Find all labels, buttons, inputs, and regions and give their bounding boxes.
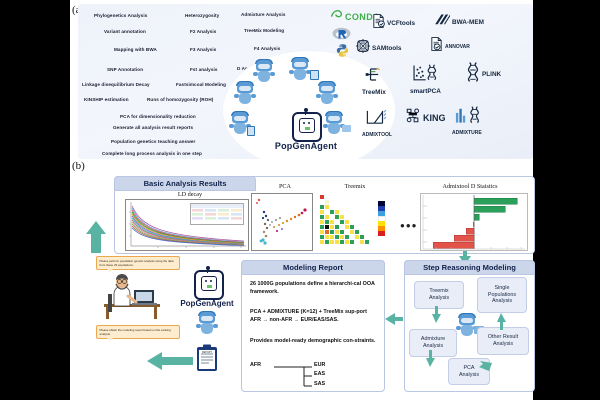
- popgenagent-logo-icon-b: [194, 270, 224, 300]
- node-pca-analysis[interactable]: PCA Analysis: [448, 358, 490, 385]
- tool-admixtool: ADMIXTOOL: [362, 108, 392, 138]
- capability-item: KINSHIP estimation: [84, 97, 129, 102]
- ld-decay-plot: [125, 199, 249, 251]
- king-icon: [406, 108, 421, 128]
- capability-item: F4 Analysis: [254, 46, 280, 51]
- panel-b-workflow: Basic Analysis Results LD decay PCA Tree…: [78, 172, 533, 396]
- user-request-bubble-1: Please perform population genetic analys…: [96, 256, 180, 270]
- step-reasoning-title: Step Reasoning Modeling: [404, 260, 535, 275]
- python-logo-icon: [335, 43, 350, 63]
- svg-text:REPORT: REPORT: [202, 351, 212, 354]
- admixture-icon: [454, 106, 480, 129]
- capability-item: F3 Analysis: [190, 47, 216, 52]
- panel-a-platform-overview: Phylogenetics Analysis Heterozygosity Ad…: [78, 4, 533, 159]
- plink-icon: [466, 62, 480, 87]
- tool-bwa-mem: BWA-MEM: [434, 13, 484, 32]
- capability-item: Variant annotation: [104, 29, 146, 34]
- arrow-results-up: [84, 220, 108, 259]
- tool-smartpca: smartPCA: [410, 64, 441, 95]
- tool-annovar: ANNOVAR: [430, 37, 470, 56]
- tool-label: ADMIXTOOL: [362, 132, 392, 138]
- tool-samtools: SAMtools: [356, 39, 401, 58]
- basic-analysis-results-title: Basic Analysis Results: [114, 176, 256, 191]
- capability-item: Generate all analysis result reports: [113, 125, 193, 130]
- capability-item: TreeMix Modeling: [244, 28, 284, 33]
- tool-label: VCFtools: [387, 20, 415, 27]
- tool-label: ANNOVAR: [445, 44, 470, 50]
- tool-label: smartPCA: [410, 88, 441, 95]
- tool-treemix: TreeMix: [362, 66, 386, 96]
- figure-content: (a) Phylogenetics Analysis Heterozygosit…: [70, 0, 533, 400]
- tool-vcftools: VCFtools: [372, 14, 415, 33]
- capability-item: Population genetics teaching answer: [111, 139, 195, 144]
- capability-item: Linkage disequilibrium Decay: [82, 82, 150, 87]
- node-single-populations-analysis[interactable]: Single Populations Analysis: [477, 277, 527, 313]
- capability-item: Heterozygosity: [185, 13, 219, 18]
- capability-item: Phylogenetics Analysis: [94, 13, 147, 18]
- report-clipboard-icon: REPORT: [196, 344, 218, 372]
- treemix-heatmap: [320, 195, 392, 249]
- tool-king: KING: [406, 108, 446, 128]
- tool-admixture: ADMIXTURE: [452, 106, 482, 136]
- capability-item: F2 Analysis: [190, 29, 216, 34]
- node-treemix-analysis[interactable]: Treemix Analysis: [414, 281, 464, 309]
- samtools-icon: [356, 39, 370, 58]
- step-reasoning-card: Step Reasoning Modeling Treemix Analysis…: [404, 260, 535, 392]
- dstats-plot: [420, 193, 528, 251]
- report-paragraph-3: Provides model-ready demographic con-str…: [250, 337, 376, 345]
- capability-item: Fst analysis: [190, 67, 218, 72]
- tool-python: [335, 43, 350, 63]
- treemix-title: Treemix: [325, 183, 385, 190]
- capability-item: Complete long process analysis in one st…: [102, 151, 202, 156]
- arrow-report-to-user: [146, 350, 194, 377]
- basic-analysis-results-card: Basic Analysis Results LD decay PCA Tree…: [114, 176, 535, 254]
- pca-title: PCA: [255, 183, 315, 190]
- bwamem-icon: [434, 13, 450, 32]
- annovar-icon: [430, 37, 443, 56]
- user-request-bubble-2: Please obtain the modeling report based …: [96, 325, 180, 339]
- arrow-reasoning-to-report: [384, 312, 404, 331]
- modeling-report-title: Modeling Report: [241, 260, 385, 275]
- vcftools-icon: [372, 14, 385, 33]
- capability-item: Runs of homozygosity (ROH): [147, 97, 213, 102]
- panel-b-label: (b): [72, 160, 85, 172]
- report-paragraph-2: PCA + ADMIXTURE (K=12) + TreeMix sup-por…: [250, 308, 376, 324]
- admixtool-icon: [366, 108, 388, 131]
- demographic-tree-diagram: AFR EUR EAS SAS: [250, 365, 370, 389]
- researcher-illustration: [100, 272, 172, 320]
- node-other-result-analysis[interactable]: Other Result Analysis: [477, 327, 529, 355]
- capability-item: Admixture Analysis: [241, 12, 286, 17]
- tool-label: SAMtools: [372, 45, 401, 52]
- figure-canvas: (a) Phylogenetics Analysis Heterozygosit…: [0, 0, 600, 400]
- node-admixture-analysis[interactable]: Admixture Analysis: [409, 329, 457, 357]
- tree-leaf-label: SAS: [314, 381, 325, 387]
- capability-item: PCA for dimensionality reduction: [120, 114, 196, 119]
- tree-leaf-label: EAS: [314, 371, 325, 377]
- pca-plot: [251, 193, 313, 251]
- tool-label: ADMIXTURE: [452, 130, 482, 136]
- smartpca-icon: [412, 64, 438, 87]
- tree-leaf-label: EUR: [314, 362, 325, 368]
- capability-item: SNP Annotation: [107, 67, 143, 72]
- conda-icon: [330, 8, 343, 26]
- dstats-title: Admixtool D Staistics: [415, 183, 525, 190]
- tool-label: BWA-MEM: [452, 19, 484, 26]
- report-paragraph-1: 26 1000G populations define a hierarchi-…: [250, 280, 376, 296]
- ld-decay-legend: [190, 203, 244, 225]
- tool-ecosystem: CONDA: [326, 4, 533, 159]
- ld-decay-title: LD decay: [155, 191, 225, 198]
- popgenagent-logo-icon: [292, 112, 322, 142]
- modeling-report-card: Modeling Report 26 1000G populations def…: [241, 260, 385, 392]
- tool-label: KING: [423, 113, 446, 123]
- tool-plink: PLINK: [466, 62, 501, 87]
- capability-item: Fastsimcoal Modeling: [176, 82, 226, 87]
- tree-root-label: AFR: [250, 362, 261, 368]
- tool-label: TreeMix: [362, 89, 386, 96]
- treemix-icon: [365, 66, 383, 88]
- tool-label: PLINK: [482, 71, 501, 78]
- capability-item: Mapping with BWA: [114, 47, 157, 52]
- agent-name-label-b: PopGenAgent: [176, 299, 238, 308]
- ellipsis-indicator: ●●●: [400, 221, 418, 230]
